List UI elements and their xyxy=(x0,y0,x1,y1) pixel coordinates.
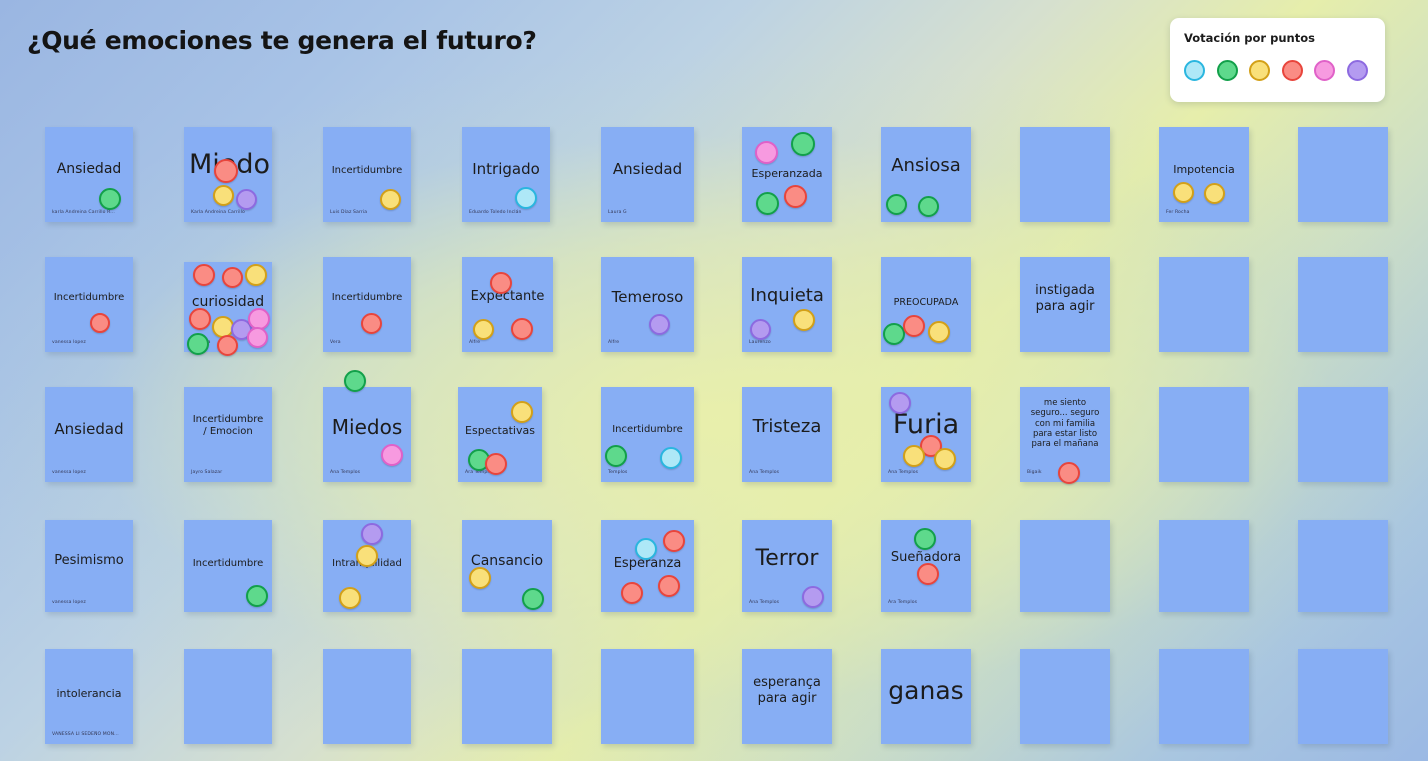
sticky-note-author: Alfre xyxy=(608,340,619,345)
sticky-note[interactable]: TemerosoAlfre xyxy=(601,257,694,352)
vote-dot-red-icon[interactable] xyxy=(658,575,680,597)
sticky-note[interactable] xyxy=(1020,649,1110,744)
sticky-note[interactable]: esperança para agir xyxy=(742,649,832,744)
vote-dot-cyan-icon[interactable] xyxy=(660,447,682,469)
vote-dot-green-icon[interactable] xyxy=(914,528,936,550)
vote-dot-green-icon[interactable] xyxy=(756,192,779,215)
sticky-note-author: vanessa lopez xyxy=(52,340,86,345)
sticky-note-text: Ansiedad xyxy=(45,161,133,178)
vote-dot-yellow-icon[interactable] xyxy=(511,401,533,423)
sticky-note[interactable]: EspectativasAra Templos xyxy=(458,387,542,482)
sticky-note[interactable] xyxy=(1298,649,1388,744)
legend-dot-yellow-icon[interactable] xyxy=(1249,60,1270,81)
sticky-note-author: Karla Andreina Carrillo xyxy=(191,210,245,215)
vote-dot-yellow-icon[interactable] xyxy=(793,309,815,331)
sticky-note[interactable]: IntrigadoEduardo Toledo Inclán xyxy=(462,127,550,222)
vote-dot-purple-icon[interactable] xyxy=(361,523,383,545)
sticky-note[interactable]: Intranquilidad xyxy=(323,520,411,612)
sticky-note-text: Ansiedad xyxy=(601,160,694,178)
sticky-note[interactable]: Cansancio xyxy=(462,520,552,612)
dot-voting-legend-title: Votación por puntos xyxy=(1184,31,1371,45)
vote-dot-green-icon[interactable] xyxy=(187,333,209,355)
sticky-note-author: Eduardo Toledo Inclán xyxy=(469,210,522,215)
sticky-note[interactable]: ImpotenciaFer Rocha xyxy=(1159,127,1249,222)
vote-dot-green-icon[interactable] xyxy=(883,323,905,345)
vote-dot-red-icon[interactable] xyxy=(189,308,211,330)
sticky-note[interactable] xyxy=(1298,387,1388,482)
sticky-note[interactable]: MiedoKarla Andreina Carrillo xyxy=(184,127,272,222)
sticky-note[interactable]: TristezaAna Templos xyxy=(742,387,832,482)
vote-dot-yellow-icon[interactable] xyxy=(1173,182,1194,203)
sticky-note-text: Incertidumbre / Emocion xyxy=(184,414,272,438)
vote-dot-yellow-icon[interactable] xyxy=(903,445,925,467)
vote-dot-green-icon[interactable] xyxy=(522,588,544,610)
sticky-note[interactable]: MiedosAna Templos xyxy=(323,387,411,482)
sticky-note[interactable]: Pesimismovanessa lopez xyxy=(45,520,133,612)
sticky-note-author: vanessa lopez xyxy=(52,470,86,475)
vote-dot-yellow-icon[interactable] xyxy=(928,321,950,343)
sticky-note-text: Incertidumbre xyxy=(601,424,694,436)
sticky-note[interactable]: ganas xyxy=(881,649,971,744)
vote-dot-red-icon[interactable] xyxy=(490,272,512,294)
sticky-note-author: Ana Templos xyxy=(888,470,918,475)
sticky-note-text: Temeroso xyxy=(601,288,694,306)
sticky-note[interactable] xyxy=(1298,520,1388,612)
sticky-note[interactable]: Ansiedadkarla Andreina Carrillo R... xyxy=(45,127,133,222)
sticky-note[interactable]: TerrorAna Templos xyxy=(742,520,832,612)
vote-dot-purple-icon[interactable] xyxy=(236,189,257,210)
sticky-note-author: Ara Templos xyxy=(888,600,917,605)
vote-dot-yellow-icon[interactable] xyxy=(380,189,401,210)
vote-dot-green-icon[interactable] xyxy=(918,196,939,217)
vote-dot-yellow-icon[interactable] xyxy=(245,264,267,286)
vote-dot-yellow-icon[interactable] xyxy=(356,545,378,567)
vote-dot-red-icon[interactable] xyxy=(90,313,110,333)
vote-dot-red-icon[interactable] xyxy=(485,453,507,475)
sticky-note[interactable]: Esperanza xyxy=(601,520,694,612)
vote-dot-cyan-icon[interactable] xyxy=(635,538,657,560)
vote-dot-yellow-icon[interactable] xyxy=(339,587,361,609)
sticky-note-text: Terror xyxy=(742,546,832,573)
sticky-note-author: Fer Rocha xyxy=(1166,210,1190,215)
sticky-note-text: Intrigado xyxy=(462,160,550,178)
sticky-note[interactable] xyxy=(1020,520,1110,612)
vote-dot-red-icon[interactable] xyxy=(784,185,807,208)
sticky-note[interactable]: IncertidumbreLuis Díaz Sarria xyxy=(323,127,411,222)
sticky-note[interactable] xyxy=(1159,649,1249,744)
sticky-note[interactable]: SueñadoraAra Templos xyxy=(881,520,971,612)
vote-dot-yellow-icon[interactable] xyxy=(473,319,494,340)
sticky-note[interactable] xyxy=(1020,127,1110,222)
sticky-note[interactable]: instigada para agir xyxy=(1020,257,1110,352)
vote-dot-red-icon[interactable] xyxy=(621,582,643,604)
vote-dot-purple-icon[interactable] xyxy=(889,392,911,414)
vote-dot-yellow-icon[interactable] xyxy=(934,448,956,470)
dot-voting-legend: Votación por puntos xyxy=(1170,18,1385,102)
sticky-note[interactable]: AnsiedadLaura G xyxy=(601,127,694,222)
sticky-note[interactable] xyxy=(1298,127,1388,222)
sticky-note-author: Templos xyxy=(608,470,627,475)
vote-dot-red-icon[interactable] xyxy=(361,313,382,334)
vote-dot-green-icon[interactable] xyxy=(99,188,121,210)
sticky-note-text: Incertidumbre xyxy=(323,292,411,304)
whiteboard-canvas[interactable]: ¿Qué emociones te genera el futuro? Vota… xyxy=(0,0,1428,761)
dot-voting-legend-dots xyxy=(1184,60,1371,81)
sticky-note-author: Luis Díaz Sarria xyxy=(330,210,367,215)
sticky-note[interactable]: Incertidumbrevanessa lopez xyxy=(45,257,133,352)
vote-dot-green-icon[interactable] xyxy=(344,370,366,392)
sticky-note-text: Espectativas xyxy=(458,424,542,437)
vote-dot-pink-icon[interactable] xyxy=(247,327,268,348)
vote-dot-red-icon[interactable] xyxy=(903,315,925,337)
vote-dot-purple-icon[interactable] xyxy=(802,586,824,608)
sticky-note-text: ganas xyxy=(881,676,971,707)
sticky-note[interactable] xyxy=(1298,257,1388,352)
sticky-note-author: Vera xyxy=(330,340,341,345)
vote-dot-cyan-icon[interactable] xyxy=(515,187,537,209)
vote-dot-green-icon[interactable] xyxy=(246,585,268,607)
sticky-note-text: intolerancia xyxy=(45,687,133,700)
sticky-note[interactable] xyxy=(1159,520,1249,612)
vote-dot-red-icon[interactable] xyxy=(511,318,533,340)
vote-dot-red-icon[interactable] xyxy=(222,267,243,288)
vote-dot-green-icon[interactable] xyxy=(791,132,815,156)
vote-dot-red-icon[interactable] xyxy=(217,335,238,356)
sticky-note[interactable]: Incertidumbre / EmocionJayro Salazar xyxy=(184,387,272,482)
sticky-note-text: esperança para agir xyxy=(742,675,832,707)
vote-dot-red-icon[interactable] xyxy=(917,563,939,585)
sticky-note[interactable] xyxy=(184,649,272,744)
sticky-note[interactable]: IncertidumbreTemplos xyxy=(601,387,694,482)
sticky-note-author: Jayro Salazar xyxy=(191,470,222,475)
sticky-note-author: Bigaik xyxy=(1027,470,1042,475)
sticky-note[interactable]: Ansiosa xyxy=(881,127,971,222)
sticky-note[interactable]: me siento seguro... seguro con mi famili… xyxy=(1020,387,1110,482)
sticky-note-text: Incertidumbre xyxy=(45,292,133,304)
sticky-note[interactable]: Incertidumbre xyxy=(184,520,272,612)
sticky-note-text: instigada para agir xyxy=(1020,283,1110,315)
sticky-note-text: Impotencia xyxy=(1159,163,1249,176)
sticky-note-author: vanessa lopez xyxy=(52,600,86,605)
sticky-note-text: Ansiedad xyxy=(45,420,133,438)
vote-dot-red-icon[interactable] xyxy=(1058,462,1080,484)
sticky-note[interactable]: Esperanzada xyxy=(742,127,832,222)
sticky-note[interactable]: intoleranciaVANESSA LI SEDEÑO MON... xyxy=(45,649,133,744)
sticky-note-text: Miedos xyxy=(323,415,411,439)
vote-dot-purple-icon[interactable] xyxy=(649,314,670,335)
sticky-note[interactable] xyxy=(1159,257,1249,352)
sticky-note-author: Ana Templos xyxy=(749,600,779,605)
sticky-note[interactable]: IncertidumbreVera xyxy=(323,257,411,352)
sticky-note[interactable]: PREOCUPADA xyxy=(881,257,971,352)
sticky-note[interactable] xyxy=(601,649,694,744)
vote-dot-green-icon[interactable] xyxy=(886,194,907,215)
page-title: ¿Qué emociones te genera el futuro? xyxy=(27,26,537,55)
sticky-note[interactable]: FuriaAna Templos xyxy=(881,387,971,482)
sticky-note-author: Laurenzo xyxy=(749,340,771,345)
sticky-note-text: Pesimismo xyxy=(45,553,133,569)
vote-dot-yellow-icon[interactable] xyxy=(213,185,234,206)
vote-dot-purple-icon[interactable] xyxy=(750,319,771,340)
sticky-note-author: Alfre xyxy=(469,340,480,345)
sticky-note[interactable]: InquietaLaurenzo xyxy=(742,257,832,352)
legend-dot-purple-icon[interactable] xyxy=(1347,60,1368,81)
vote-dot-pink-icon[interactable] xyxy=(755,141,778,164)
sticky-note[interactable] xyxy=(323,649,411,744)
sticky-note[interactable] xyxy=(462,649,552,744)
sticky-note-text: Incertidumbre xyxy=(323,165,411,177)
vote-dot-yellow-icon[interactable] xyxy=(1204,183,1225,204)
sticky-note[interactable]: ExpectanteAlfre xyxy=(462,257,553,352)
sticky-note-author: VANESSA LI SEDEÑO MON... xyxy=(52,732,119,737)
sticky-note-text: Ansiosa xyxy=(881,155,971,177)
sticky-note-author: Ana Templos xyxy=(749,470,779,475)
sticky-note[interactable] xyxy=(1159,387,1249,482)
legend-dot-pink-icon[interactable] xyxy=(1314,60,1335,81)
sticky-note[interactable]: curiosidadvanessa xyxy=(184,262,272,352)
sticky-note-text: Inquieta xyxy=(742,285,832,307)
legend-dot-cyan-icon[interactable] xyxy=(1184,60,1205,81)
sticky-note-text: me siento seguro... seguro con mi famili… xyxy=(1020,398,1110,450)
sticky-note-author: Laura G xyxy=(608,210,627,215)
sticky-note-text: PREOCUPADA xyxy=(881,297,971,309)
vote-dot-yellow-icon[interactable] xyxy=(469,567,491,589)
sticky-note-author: karla Andreina Carrillo R... xyxy=(52,210,115,215)
sticky-note-text: Incertidumbre xyxy=(184,558,272,570)
sticky-note-author: Ana Templos xyxy=(330,470,360,475)
vote-dot-red-icon[interactable] xyxy=(214,159,238,183)
sticky-note-text: Esperanzada xyxy=(742,167,832,180)
sticky-note[interactable]: Ansiedadvanessa lopez xyxy=(45,387,133,482)
legend-dot-red-icon[interactable] xyxy=(1282,60,1303,81)
legend-dot-green-icon[interactable] xyxy=(1217,60,1238,81)
vote-dot-green-icon[interactable] xyxy=(605,445,627,467)
vote-dot-red-icon[interactable] xyxy=(193,264,215,286)
vote-dot-red-icon[interactable] xyxy=(663,530,685,552)
sticky-note-text: Tristeza xyxy=(742,416,832,438)
vote-dot-pink-icon[interactable] xyxy=(381,444,403,466)
